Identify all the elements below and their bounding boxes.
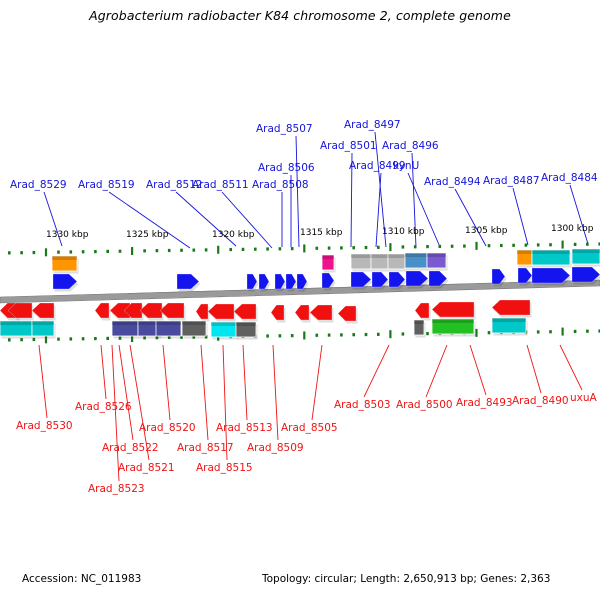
- top-gene-label[interactable]: Arad_8529: [10, 180, 67, 191]
- gene-arrow-reverse[interactable]: [295, 305, 309, 320]
- scale-tick: [33, 251, 36, 254]
- scale-tick: [316, 247, 319, 250]
- bottom-gene-label-leader-line: [163, 345, 170, 420]
- domain-box-top-shade: [351, 254, 371, 258]
- scale-tick: [229, 248, 232, 251]
- bottom-gene-label-leader-line: [312, 345, 322, 420]
- scale-tick: [143, 249, 146, 252]
- scale-tick: [254, 248, 257, 251]
- scale-tick: [537, 243, 540, 246]
- scale-tick: [20, 338, 23, 341]
- top-gene-label-leader-line: [570, 185, 588, 244]
- gene-arrow-reverse[interactable]: [415, 303, 429, 318]
- bottom-gene-label-leader-line: [112, 345, 119, 481]
- gene-arrow-reverse[interactable]: [432, 302, 474, 317]
- domain-box-top-shade: [112, 321, 138, 325]
- scale-tick: [106, 337, 109, 340]
- scale-tick: [8, 338, 11, 341]
- scale-tick: [426, 245, 429, 248]
- scale-tick: [193, 249, 196, 252]
- bottom-gene-label[interactable]: Arad_8490: [512, 396, 569, 407]
- bottom-label-leader-lines: [39, 345, 582, 481]
- gene-arrow-reverse[interactable]: [208, 304, 234, 319]
- gene-arrow-reverse[interactable]: [196, 304, 208, 319]
- scale-tick: [500, 244, 503, 247]
- domain-box-top-shade: [572, 249, 600, 253]
- scale-tick: [488, 331, 491, 334]
- gene-arrow-reverse[interactable]: [338, 306, 356, 321]
- bottom-gene-label[interactable]: Arad_8517: [177, 443, 234, 454]
- scale-tick: [57, 338, 60, 341]
- bottom-gene-label-leader-line: [273, 345, 278, 440]
- scale-tick: [365, 333, 368, 336]
- top-gene-label[interactable]: Arad_8508: [252, 180, 309, 191]
- gene-arrow-reverse[interactable]: [95, 303, 109, 318]
- scale-tick: [156, 249, 159, 252]
- scale-tick: [340, 333, 343, 336]
- top-gene-label[interactable]: Arad_8501: [320, 141, 377, 152]
- scale-tick: [303, 331, 305, 339]
- ruler-tick-label: 1330 kbp: [46, 230, 88, 240]
- scale-tick: [402, 245, 405, 248]
- scale-tick: [70, 250, 73, 253]
- scale-tick: [586, 243, 589, 246]
- domain-box-top-shade: [211, 322, 237, 326]
- bottom-gene-label[interactable]: Arad_8523: [88, 484, 145, 495]
- gene-arrow-reverse[interactable]: [32, 303, 54, 318]
- scale-tick: [475, 242, 477, 250]
- scale-tick: [119, 250, 122, 253]
- scale-tick: [291, 247, 294, 250]
- scale-tick: [365, 246, 368, 249]
- scale-tick: [8, 251, 11, 254]
- scale-tick: [562, 328, 564, 336]
- domain-box-top-shade: [32, 321, 54, 325]
- scale-tick: [488, 244, 491, 247]
- top-gene-label[interactable]: Arad_8507: [256, 124, 313, 135]
- ruler-tick-label: 1310 kbp: [382, 227, 424, 237]
- ruler-tick-label: 1300 kbp: [551, 224, 593, 234]
- scale-tick: [20, 251, 23, 254]
- scale-tick: [377, 333, 380, 336]
- bottom-gene-label[interactable]: Arad_8509: [247, 443, 304, 454]
- scale-tick: [475, 329, 477, 337]
- bottom-gene-label[interactable]: Arad_8503: [334, 400, 391, 411]
- top-gene-label[interactable]: Arad_8494: [424, 177, 481, 188]
- scale-tick: [549, 243, 552, 246]
- scale-tick: [131, 247, 133, 255]
- bottom-gene-label[interactable]: Arad_8522: [102, 443, 159, 454]
- top-gene-label[interactable]: Arad_8484: [541, 173, 598, 184]
- genome-graphics-layer: [0, 0, 600, 600]
- scale-tick: [45, 248, 47, 256]
- bottom-gene-label[interactable]: Arad_8505: [281, 423, 338, 434]
- top-gene-label[interactable]: Arad_8487: [483, 176, 540, 187]
- bottom-gene-label[interactable]: Arad_8526: [75, 402, 132, 413]
- gene-arrow-reverse[interactable]: [234, 304, 256, 319]
- scale-tick: [574, 330, 577, 333]
- top-gene-label[interactable]: Arad_8497: [344, 120, 401, 131]
- bottom-gene-label-leader-line: [101, 345, 106, 399]
- scale-tick: [512, 244, 515, 247]
- domain-box-top-shade: [322, 255, 334, 259]
- scale-tick: [316, 334, 319, 337]
- scale-tick: [57, 251, 60, 254]
- scale-tick: [94, 250, 97, 253]
- top-gene-label[interactable]: Arad_8506: [258, 163, 315, 174]
- gene-arrow-reverse[interactable]: [160, 303, 184, 318]
- scale-tick: [266, 247, 269, 250]
- domain-box-top-shade: [156, 321, 181, 325]
- genome-stats-text: Topology: circular; Length: 2,650,913 bp…: [262, 573, 550, 585]
- scale-tick: [180, 249, 183, 252]
- bottom-gene-label[interactable]: Arad_8500: [396, 400, 453, 411]
- scale-tick: [303, 244, 305, 252]
- scale-tick: [205, 248, 208, 251]
- scale-tick: [340, 246, 343, 249]
- ruler-tick-label: 1320 kbp: [212, 230, 254, 240]
- bottom-gene-label[interactable]: Arad_8530: [16, 421, 73, 432]
- bottom-gene-label-leader-line: [560, 345, 582, 390]
- bottom-gene-label-leader-line: [243, 345, 247, 420]
- top-gene-label-leader-line: [513, 188, 528, 245]
- scale-tick: [389, 330, 391, 338]
- top-gene-label-leader-line: [296, 136, 299, 247]
- bottom-gene-label[interactable]: Arad_8515: [196, 463, 253, 474]
- scale-tick: [414, 245, 417, 248]
- gene-arrow-reverse[interactable]: [271, 305, 284, 320]
- bottom-gene-label-leader-line: [527, 345, 541, 393]
- top-gene-label[interactable]: Arad_8519: [78, 180, 135, 191]
- domain-box-top-shade: [414, 320, 424, 324]
- bottom-gene-label[interactable]: uxuA: [570, 393, 597, 404]
- domain-box-top-shade: [236, 322, 256, 326]
- domain-box-top-shade: [182, 321, 206, 325]
- domain-box-top-shade: [405, 253, 427, 257]
- domain-box-top-shade: [432, 319, 474, 323]
- domain-box-top-shade: [492, 318, 526, 322]
- accession-text: Accession: NC_011983: [22, 573, 141, 585]
- bottom-gene-label[interactable]: Arad_8521: [118, 463, 175, 474]
- ruler-tick-label: 1325 kbp: [126, 230, 168, 240]
- scale-tick: [426, 332, 429, 335]
- scale-tick: [562, 241, 564, 249]
- scale-tick: [537, 330, 540, 333]
- scale-tick: [352, 246, 355, 249]
- top-gene-label[interactable]: kynU: [393, 161, 419, 172]
- scale-tick: [549, 330, 552, 333]
- scale-tick: [279, 334, 282, 337]
- scale-tick: [217, 246, 219, 254]
- ruler-tick-label: 1305 kbp: [465, 226, 507, 236]
- gene-arrow-reverse[interactable]: [310, 305, 332, 320]
- domain-box-top-shade: [532, 250, 570, 254]
- top-scale-ticks: [8, 241, 600, 257]
- scale-tick: [439, 245, 442, 248]
- bottom-gene-label-leader-line: [39, 345, 47, 418]
- scale-tick: [389, 243, 391, 251]
- scale-tick: [402, 332, 405, 335]
- top-gene-label[interactable]: Arad_8511: [192, 180, 249, 191]
- scale-tick: [352, 333, 355, 336]
- top-gene-label-leader-line: [455, 189, 486, 246]
- gene-arrow-forward[interactable]: [532, 268, 570, 283]
- scale-tick: [242, 248, 245, 251]
- scale-tick: [168, 249, 171, 252]
- gene-arrow-reverse[interactable]: [492, 300, 530, 315]
- domain-box-top-shade: [371, 254, 388, 258]
- domain-box-top-shade: [0, 321, 32, 325]
- scale-tick: [266, 334, 269, 337]
- bottom-gene-label[interactable]: Arad_8493: [456, 398, 513, 409]
- scale-tick: [106, 250, 109, 253]
- scale-tick: [291, 334, 294, 337]
- scale-tick: [574, 243, 577, 246]
- domain-box-top-shade: [52, 256, 77, 260]
- bottom-gene-label-leader-line: [426, 345, 447, 397]
- bottom-strand-domain-boxes: [0, 318, 528, 340]
- scale-tick: [82, 250, 85, 253]
- scale-tick: [328, 333, 331, 336]
- scale-tick: [451, 245, 454, 248]
- ruler-tick-label: 1315 kbp: [300, 228, 342, 238]
- scale-tick: [70, 337, 73, 340]
- domain-box-top-shade: [427, 253, 446, 257]
- scale-tick: [328, 246, 331, 249]
- domain-box-top-shade: [517, 250, 532, 254]
- scale-tick: [279, 247, 282, 250]
- bottom-gene-label[interactable]: Arad_8513: [216, 423, 273, 434]
- scale-tick: [82, 337, 85, 340]
- domain-box-top-shade: [388, 254, 405, 258]
- bottom-gene-label-leader-line: [201, 345, 208, 440]
- genome-map-view: Agrobacterium radiobacter K84 chromosome…: [0, 0, 600, 600]
- scale-tick: [586, 330, 589, 333]
- bottom-gene-label-leader-line: [364, 345, 389, 397]
- bottom-gene-label[interactable]: Arad_8520: [139, 423, 196, 434]
- top-gene-label[interactable]: Arad_8496: [382, 141, 439, 152]
- scale-tick: [94, 337, 97, 340]
- scale-tick: [525, 244, 528, 247]
- bottom-gene-label-leader-line: [119, 345, 133, 440]
- scale-tick: [377, 246, 380, 249]
- scale-tick: [463, 244, 466, 247]
- bottom-gene-label-leader-line: [470, 345, 486, 395]
